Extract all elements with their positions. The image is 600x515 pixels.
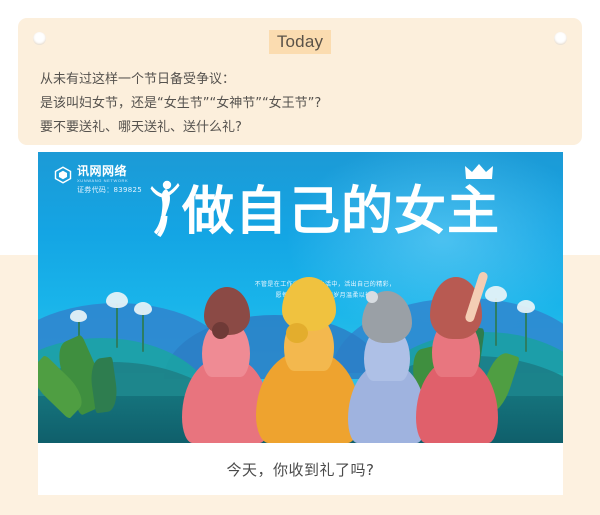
dancing-woman-silhouette-icon (150, 178, 180, 240)
today-badge: Today (269, 30, 331, 54)
poster-caption-bar: 今天，你收到礼了吗? (38, 443, 563, 495)
hexagon-logo-icon (54, 166, 72, 184)
woman-darkred-figure (414, 275, 500, 443)
hair-bun (212, 322, 229, 339)
crown-icon (464, 163, 494, 181)
caption-text: 今天，你收到礼了吗? (227, 459, 375, 480)
note-line: 是该叫妇女节，还是“女生节”“女神节”“女王节”? (40, 92, 560, 116)
hair-shape (282, 277, 336, 331)
today-badge-row: Today (18, 30, 582, 54)
today-note-card: Today 从未有过这样一个节日备受争议： 是该叫妇女节，还是“女生节”“女神节… (18, 18, 582, 145)
poster-headline: 做自己的女主 (182, 184, 500, 240)
brand-latin-name: XUNWANG NETWORK (77, 179, 142, 183)
note-line: 从未有过这样一个节日备受争议： (40, 68, 560, 92)
women-illustration-group (38, 245, 563, 443)
hair-bun (286, 323, 308, 343)
brand-name: 讯网网络 (77, 165, 142, 177)
poster-headline-group: 做自己的女主 (150, 178, 500, 240)
brand-logo: 讯网网络 XUNWANG NETWORK 证券代码：839825 (54, 165, 142, 194)
hair-flower-icon (366, 291, 378, 303)
stock-code: 证券代码：839825 (77, 187, 142, 194)
brand-text-block: 讯网网络 XUNWANG NETWORK 证券代码：839825 (77, 165, 142, 194)
note-text-block: 从未有过这样一个节日备受争议： 是该叫妇女节，还是“女生节”“女神节”“女王节”… (40, 68, 560, 140)
poster-image: 讯网网络 XUNWANG NETWORK 证券代码：839825 做自己的女主 … (38, 152, 563, 443)
note-line: 要不要送礼、哪天送礼、送什么礼? (40, 116, 560, 140)
